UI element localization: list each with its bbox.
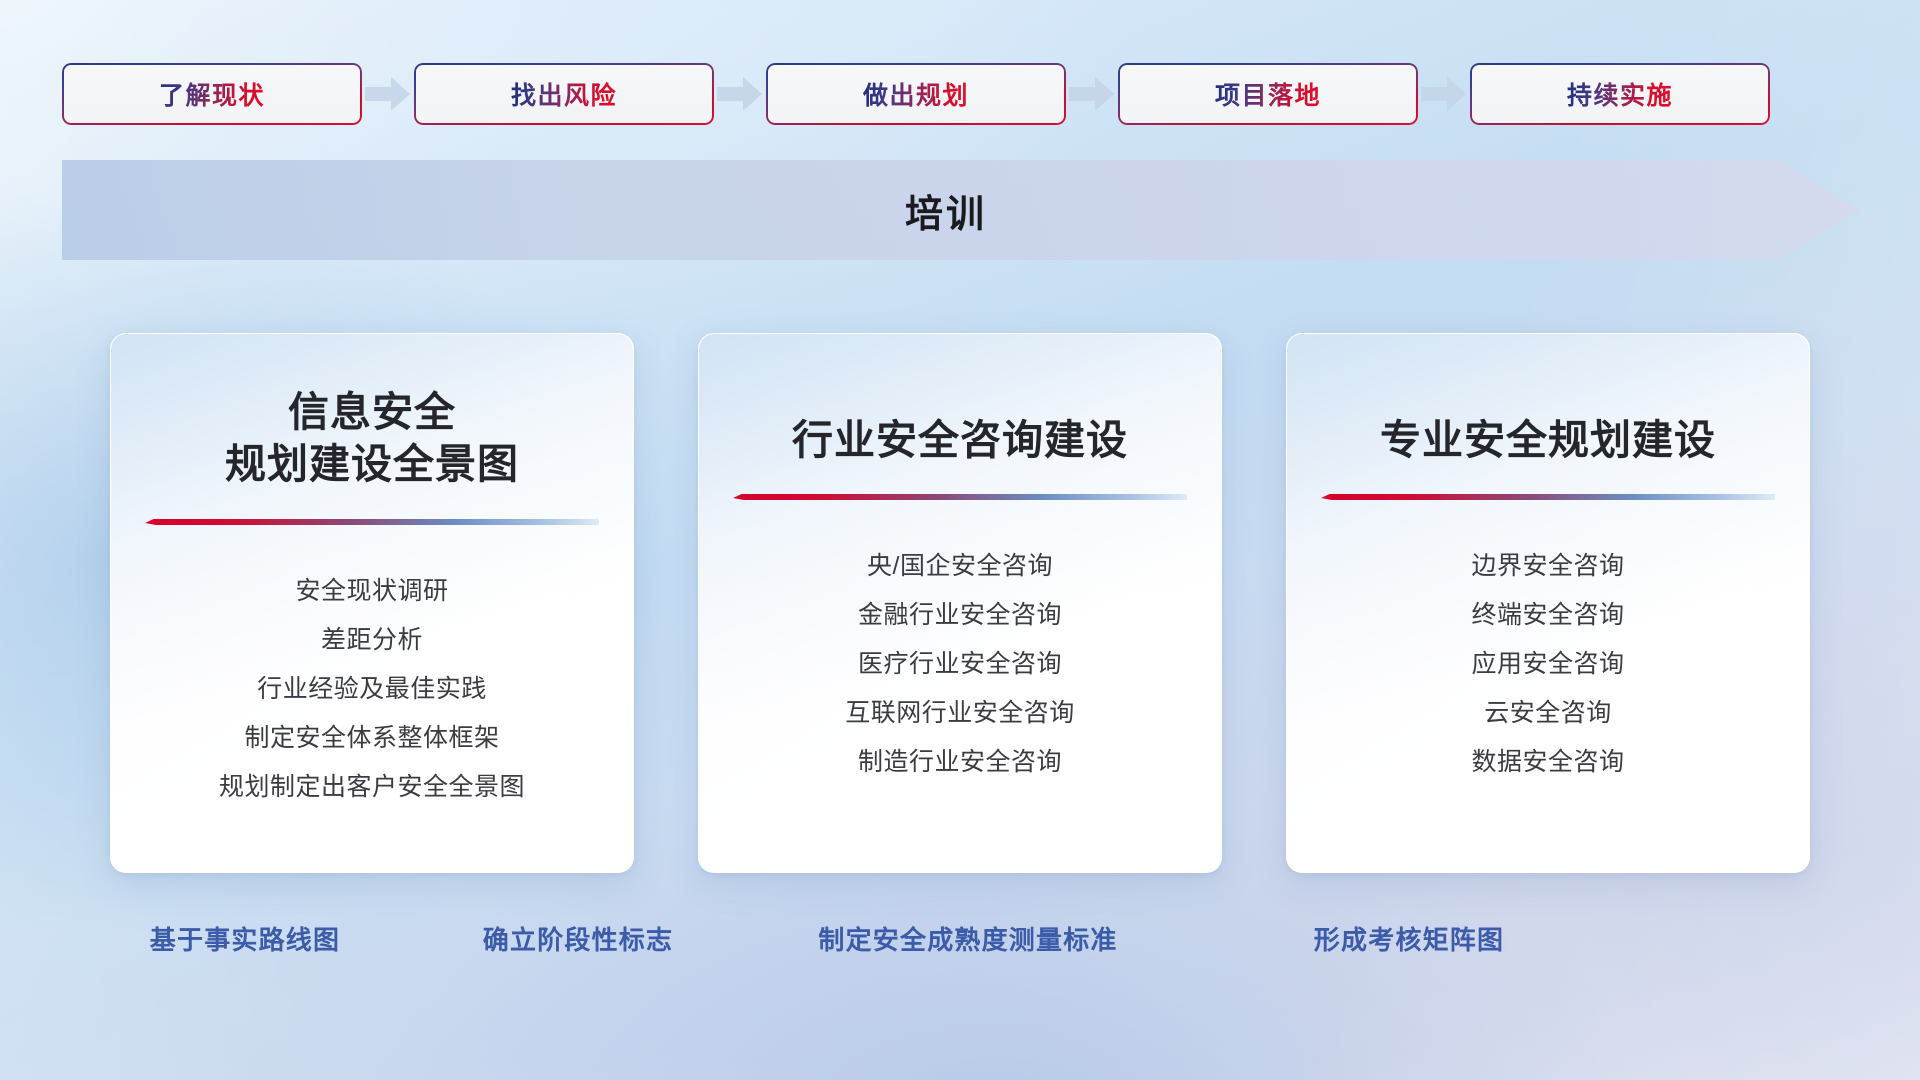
- slide-stage: 了解现状 找出风险 做出规划 项目落地: [0, 0, 1920, 1080]
- list-item: 差距分析: [145, 616, 599, 665]
- caption-2: 确立阶段性标志: [483, 920, 673, 957]
- list-item: 应用安全咨询: [1321, 640, 1775, 689]
- list-item: 互联网行业安全咨询: [733, 689, 1187, 738]
- list-item: 制定安全体系整体框架: [145, 714, 599, 763]
- list-item: 边界安全咨询: [1321, 542, 1775, 591]
- step-chip-label: 项目落地: [1215, 76, 1321, 112]
- arrow-right-icon: [714, 63, 766, 125]
- process-step-row: 了解现状 找出风险 做出规划 项目落地: [62, 63, 1858, 125]
- step-chip-label: 了解现状: [159, 76, 265, 112]
- card-item-list: 边界安全咨询 终端安全咨询 应用安全咨询 云安全咨询 数据安全咨询: [1321, 542, 1775, 787]
- arrow-right-icon: [1066, 63, 1118, 125]
- card-title: 专业安全规划建设: [1380, 386, 1716, 466]
- card-row: 信息安全 规划建设全景图: [110, 333, 1810, 873]
- card-title: 行业安全咨询建设: [792, 386, 1128, 466]
- list-item: 央/国企安全咨询: [733, 542, 1187, 591]
- list-item: 云安全咨询: [1321, 689, 1775, 738]
- step-chip-label: 持续实施: [1567, 76, 1673, 112]
- list-item: 安全现状调研: [145, 567, 599, 616]
- card-divider: [1321, 494, 1775, 508]
- step-chip-label: 做出规划: [863, 76, 969, 112]
- card-item-list: 央/国企安全咨询 金融行业安全咨询 医疗行业安全咨询 互联网行业安全咨询 制造行…: [733, 542, 1187, 787]
- step-chip-5[interactable]: 持续实施: [1470, 63, 1770, 125]
- card-divider: [733, 494, 1187, 508]
- list-item: 医疗行业安全咨询: [733, 640, 1187, 689]
- step-chip-3[interactable]: 做出规划: [766, 63, 1066, 125]
- arrow-right-icon: [362, 63, 414, 125]
- list-item: 数据安全咨询: [1321, 738, 1775, 787]
- card-item-list: 安全现状调研 差距分析 行业经验及最佳实践 制定安全体系整体框架 规划制定出客户…: [145, 567, 599, 812]
- card-divider: [145, 519, 599, 533]
- list-item: 制造行业安全咨询: [733, 738, 1187, 787]
- arrow-right-icon: [1418, 63, 1470, 125]
- list-item: 行业经验及最佳实践: [145, 665, 599, 714]
- card-professional-planning[interactable]: 专业安全规划建设: [1286, 333, 1810, 873]
- caption-4: 形成考核矩阵图: [1314, 920, 1504, 957]
- step-chip-label: 找出风险: [511, 76, 617, 112]
- list-item: 终端安全咨询: [1321, 591, 1775, 640]
- card-title: 信息安全 规划建设全景图: [225, 386, 519, 491]
- list-item: 金融行业安全咨询: [733, 591, 1187, 640]
- step-chip-2[interactable]: 找出风险: [414, 63, 714, 125]
- training-band: 培训: [62, 160, 1860, 260]
- caption-row: 基于事实路线图 确立阶段性标志 制定安全成熟度测量标准 形成考核矩阵图: [0, 920, 1920, 966]
- training-band-label: 培训: [62, 160, 1860, 260]
- card-security-blueprint[interactable]: 信息安全 规划建设全景图: [110, 333, 634, 873]
- list-item: 规划制定出客户安全全景图: [145, 763, 599, 812]
- card-industry-consulting[interactable]: 行业安全咨询建设: [698, 333, 1222, 873]
- step-chip-4[interactable]: 项目落地: [1118, 63, 1418, 125]
- step-chip-1[interactable]: 了解现状: [62, 63, 362, 125]
- caption-1: 基于事实路线图: [150, 920, 340, 957]
- caption-3: 制定安全成熟度测量标准: [818, 920, 1117, 957]
